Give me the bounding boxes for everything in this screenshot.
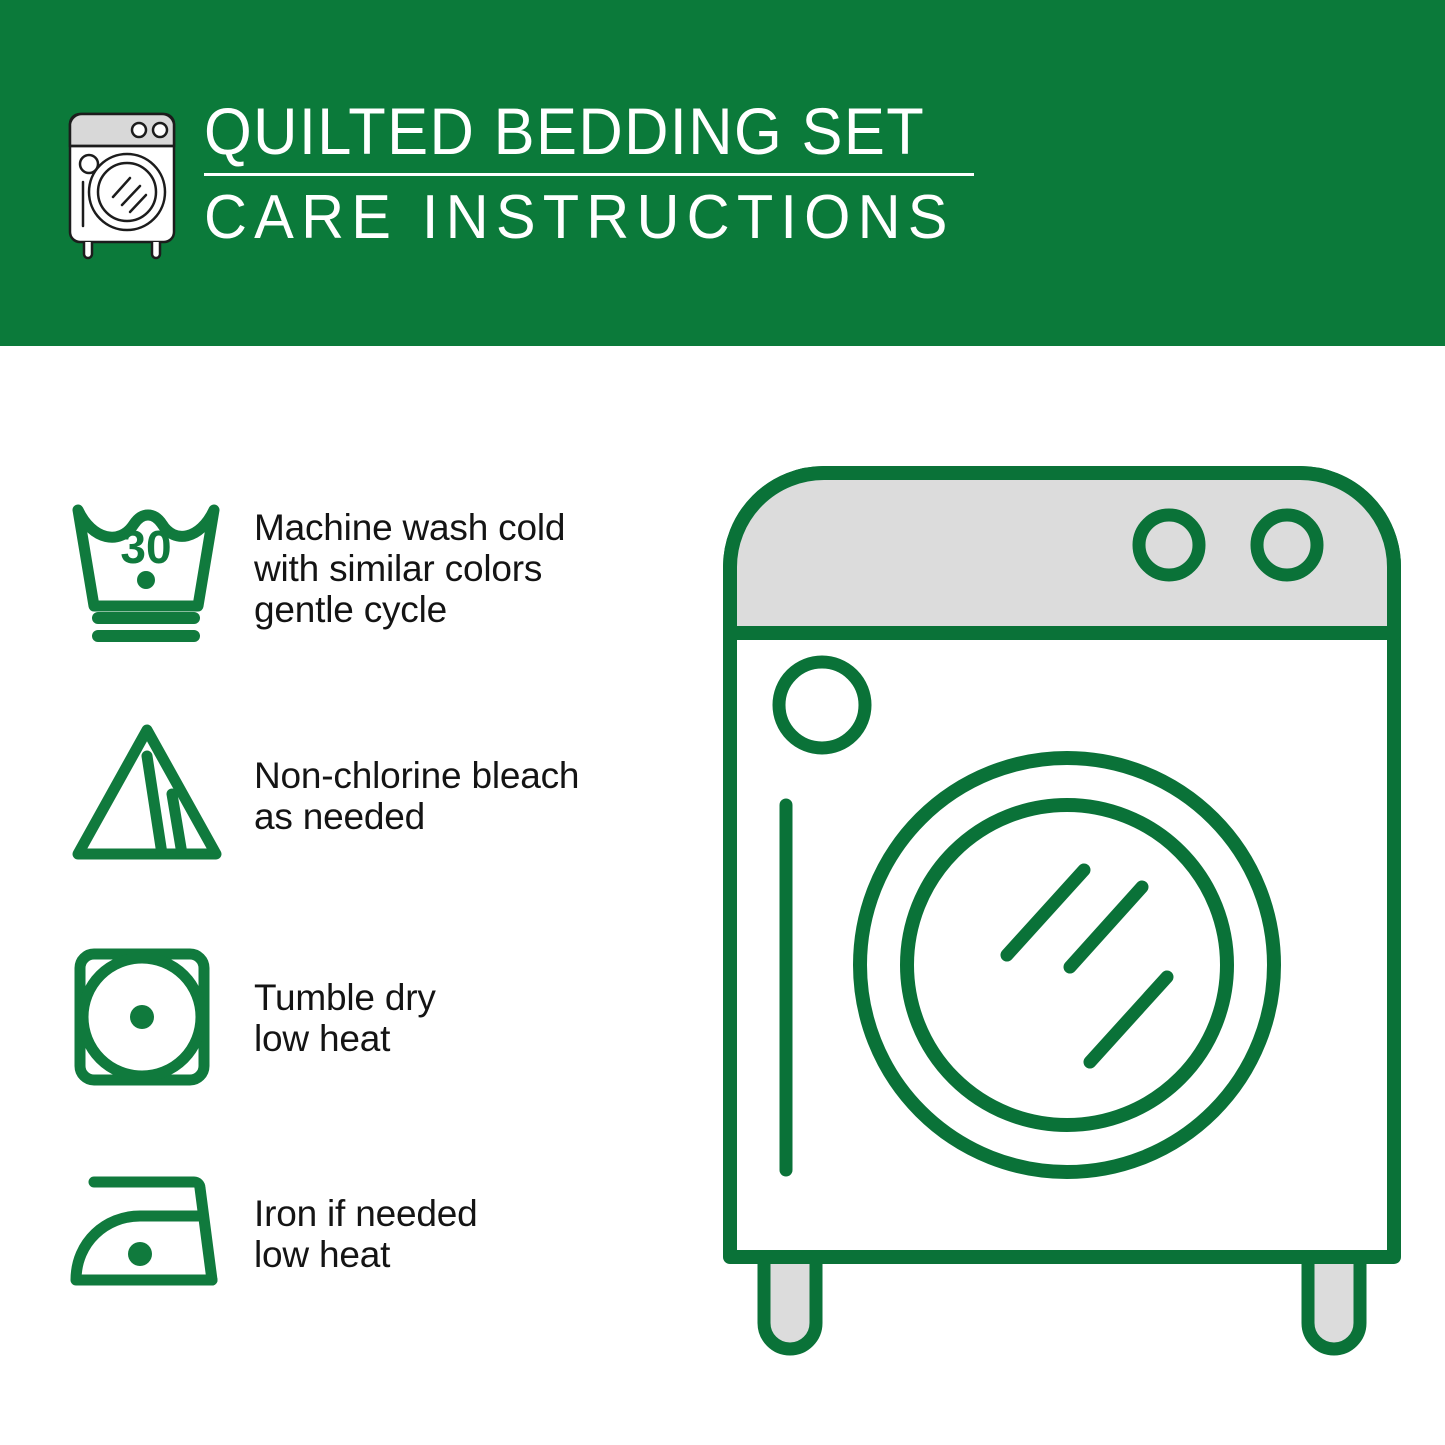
title-divider (204, 173, 974, 176)
care-row-tumble-dry: Tumble dry low heat (62, 938, 682, 1098)
care-row-iron: Iron if needed low heat (62, 1154, 682, 1314)
care-label-iron: Iron if needed low heat (254, 1193, 682, 1275)
page-subtitle: CARE INSTRUCTIONS (204, 185, 955, 251)
page-title: QUILTED BEDDING SET (204, 96, 931, 166)
care-label-bleach: Non-chlorine bleach as needed (254, 755, 682, 837)
care-row-bleach: Non-chlorine bleach as needed (62, 716, 682, 876)
wash-temperature-label: 30 (120, 521, 171, 573)
washing-machine-icon (62, 104, 182, 264)
front-load-washing-machine-illustration (712, 455, 1412, 1375)
care-instructions-page: QUILTED BEDDING SET CARE INSTRUCTIONS (0, 0, 1445, 1445)
care-label-tumble-dry: Tumble dry low heat (254, 977, 682, 1059)
care-row-machine-wash: 30 Machine wash cold with similar colors… (62, 488, 682, 648)
header-banner: QUILTED BEDDING SET CARE INSTRUCTIONS (0, 0, 1445, 346)
wash-tub-30-icon: 30 (62, 488, 232, 648)
care-label-machine-wash: Machine wash cold with similar colors ge… (254, 507, 682, 630)
header-text-group: QUILTED BEDDING SET CARE INSTRUCTIONS (204, 96, 986, 251)
iron-icon (62, 1154, 232, 1314)
care-instruction-list: 30 Machine wash cold with similar colors… (0, 346, 700, 1445)
tumble-dry-icon (62, 938, 232, 1098)
header-content: QUILTED BEDDING SET CARE INSTRUCTIONS (62, 96, 1382, 268)
bleach-triangle-icon (62, 716, 232, 876)
